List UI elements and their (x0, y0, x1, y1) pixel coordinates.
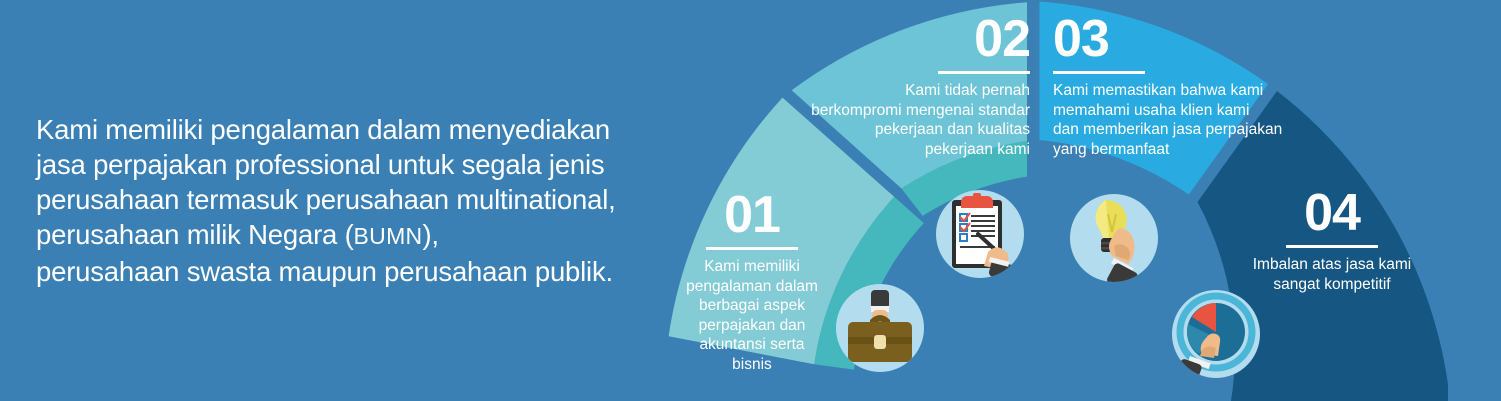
segment-01-text: 01 Kami memiliki pengalaman dalam berbag… (672, 190, 832, 374)
segment-01-line-3: berbagai aspek (672, 296, 832, 316)
segment-03-text: 03 Kami memastikan bahwa kami memahami u… (1053, 14, 1313, 159)
segment-03-line-3: dan memberikan jasa perpajakan (1053, 120, 1313, 140)
segment-02-line-3: pekerjaan dan kualitas (782, 120, 1030, 140)
infographic-canvas: Kami memiliki pengalaman dalam menyediak… (0, 0, 1501, 401)
segment-04-icon-badge[interactable] (1172, 290, 1260, 378)
segment-02-line-4: pekerjaan kami (782, 140, 1030, 160)
segment-01-line-1: Kami memiliki (672, 257, 832, 277)
segment-02-line-1: Kami tidak pernah (782, 81, 1030, 101)
segment-01-icon-badge[interactable] (836, 284, 924, 372)
segment-01-line-4: perpajakan dan (672, 316, 832, 336)
segment-04-body: Imbalan atas jasa kami sangat kompetitif (1232, 255, 1432, 294)
segment-01-number: 01 (672, 190, 832, 240)
segment-03-body: Kami memastikan bahwa kami memahami usah… (1053, 81, 1313, 159)
segment-04-line-1: Imbalan atas jasa kami (1232, 255, 1432, 275)
segment-02-text: 02 Kami tidak pernah berkompromi mengena… (782, 14, 1030, 159)
segment-02-icon-badge[interactable] (936, 190, 1024, 278)
segment-04-rule (1286, 245, 1378, 248)
segment-01-rule (706, 247, 798, 250)
segment-01-body: Kami memiliki pengalaman dalam berbagai … (672, 257, 832, 374)
segment-04-line-2: sangat kompetitif (1232, 275, 1432, 295)
segment-03-rule (1053, 71, 1145, 74)
segment-01-line-6: bisnis (672, 355, 832, 375)
segment-02-line-2: berkompromi mengenai standar (782, 101, 1030, 121)
segment-04-text: 04 Imbalan atas jasa kami sangat kompeti… (1232, 188, 1432, 294)
segment-02-body: Kami tidak pernah berkompromi mengenai s… (782, 81, 1030, 159)
segment-03-icon-badge[interactable] (1070, 194, 1158, 282)
briefcase-icon (836, 284, 924, 372)
segment-03-line-1: Kami memastikan bahwa kami (1053, 81, 1313, 101)
lightbulb-icon (1070, 194, 1158, 282)
segment-03-line-4: yang bermanfaat (1053, 140, 1313, 160)
clipboard-checklist-icon (936, 190, 1024, 278)
segment-02-number: 02 (782, 14, 1030, 64)
pie-chart-icon (1172, 290, 1260, 378)
segment-03-line-2: memahami usaha klien kami (1053, 101, 1313, 121)
segment-04-number: 04 (1232, 188, 1432, 238)
segment-01-line-2: pengalaman dalam (672, 277, 832, 297)
segment-02-rule (938, 71, 1030, 74)
segment-01-line-5: akuntansi serta (672, 335, 832, 355)
segment-03-number: 03 (1053, 14, 1313, 64)
